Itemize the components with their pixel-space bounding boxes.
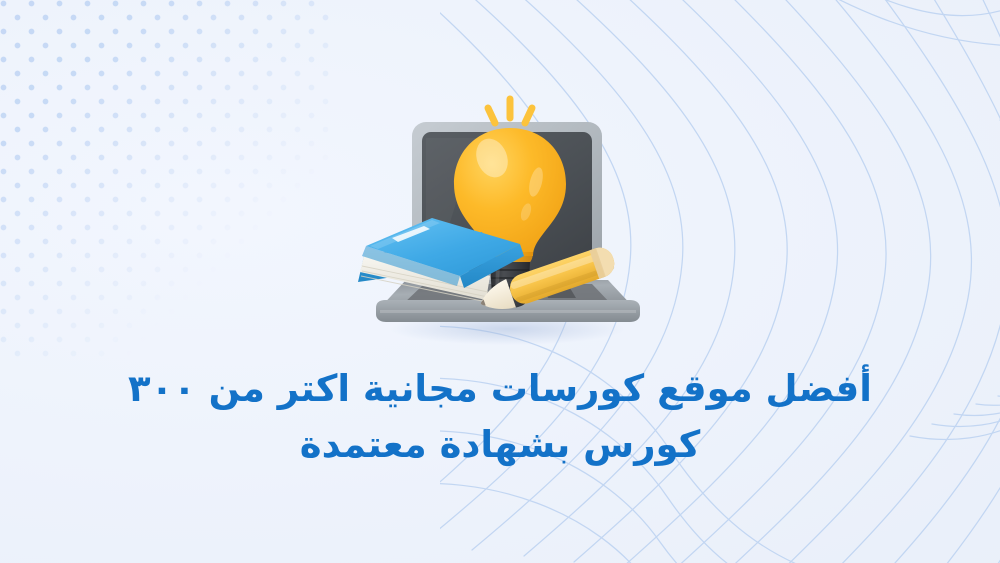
headline-line-1: أفضل موقع كورسات مجانية اكتر من ٣٠٠: [120, 362, 880, 416]
course-promo-banner: أفضل موقع كورسات مجانية اكتر من ٣٠٠ كورس…: [0, 0, 1000, 563]
headline-line-2: كورس بشهادة معتمدة: [120, 418, 880, 472]
light-rays-icon: [488, 99, 532, 123]
laptop-lightbulb-book-pencil-illustration: [340, 86, 660, 348]
halftone-dots-pattern: [0, 0, 330, 360]
headline-block: أفضل موقع كورسات مجانية اكتر من ٣٠٠ كورس…: [0, 362, 1000, 471]
